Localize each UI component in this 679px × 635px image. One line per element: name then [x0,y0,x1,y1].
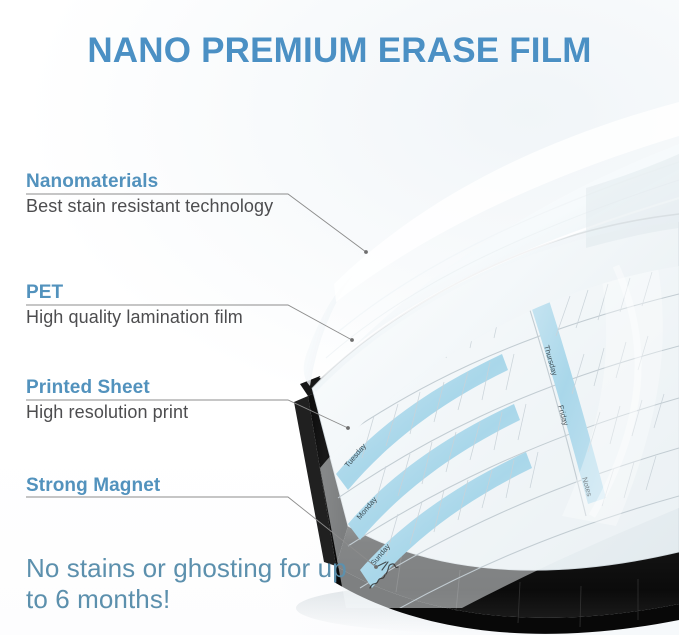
day-label-text: Saturday Tuesday Monday Sunday Wed Thurs… [331,290,595,567]
nano-film [304,102,679,392]
feature-title: Nanomaterials [26,170,316,193]
svg-text:Sunday: Sunday [369,542,392,567]
gloss-reflection [592,266,638,516]
svg-text:Friday: Friday [556,404,570,427]
feature-description: High quality lamination film [26,307,316,328]
day-tab-right [522,272,606,504]
svg-text:Tuesday: Tuesday [343,441,368,469]
day-tabs [330,276,552,428]
sheet-top-edge [312,214,679,388]
page-title: NANO PREMIUM ERASE FILM [0,30,679,72]
feature-description: Best stain resistant technology [26,196,316,217]
feature-pet: PET High quality lamination film [26,281,316,328]
rule-lines [350,272,664,556]
product-infographic: Saturday Tuesday Monday Sunday Wed Thurs… [0,0,679,635]
svg-text:Notes: Notes [580,476,594,498]
feature-nanomaterials: Nanomaterials Best stain resistant techn… [26,170,316,217]
feature-description: High resolution print [26,402,316,423]
feature-title: Strong Magnet [26,474,316,497]
leader-dots [346,250,378,569]
day-tab-left [316,260,532,588]
svg-text:Wed: Wed [530,290,543,307]
calendar-grid [316,246,679,624]
tagline: No stains or ghosting for up to 6 months… [26,553,356,615]
handwriting-mark [370,562,398,588]
svg-text:Thursday: Thursday [542,344,559,377]
feature-printed-sheet: Printed Sheet High resolution print [26,376,316,423]
feature-title: Printed Sheet [26,376,316,399]
svg-text:Monday: Monday [355,495,379,521]
svg-text:Saturday: Saturday [331,388,357,417]
feature-strong-magnet: Strong Magnet [26,474,316,497]
feature-title: PET [26,281,316,304]
